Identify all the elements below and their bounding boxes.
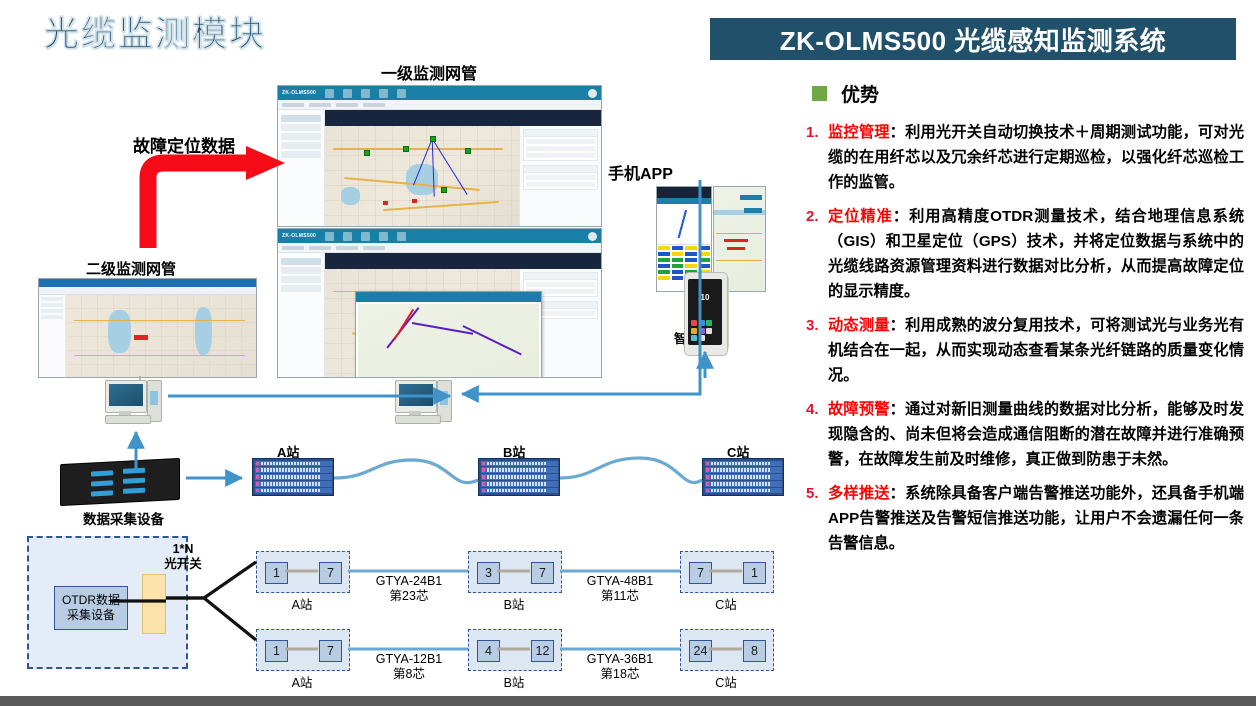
list-item-body: 多样推送：系统除具备客户端告警推送功能外，还具备手机端APP告警推送及告警短信推… xyxy=(828,481,1244,556)
breadcrumb-chip xyxy=(282,246,304,250)
port-right: 7 xyxy=(319,640,342,662)
avatar xyxy=(588,89,597,98)
list-item-sep: ： xyxy=(890,401,905,418)
list-item-sep: ： xyxy=(890,485,905,502)
optical-switch-line2: 光开关 xyxy=(153,557,213,572)
map-road xyxy=(74,355,245,357)
list-item-keyword: 多样推送 xyxy=(828,485,890,502)
fault-location-dialog[interactable] xyxy=(355,291,542,378)
daq-port xyxy=(123,488,145,494)
nms-menu-icon xyxy=(379,232,388,241)
sidebar-item xyxy=(281,258,321,265)
page-title: 光缆监测模块 xyxy=(44,6,266,57)
odf-row xyxy=(481,461,558,467)
smartphone-image: 10 xyxy=(678,272,732,354)
port-right: 8 xyxy=(743,640,766,662)
port-left: 3 xyxy=(477,562,500,584)
app-icon xyxy=(699,328,705,334)
nms-sidebar xyxy=(278,110,325,227)
map-water xyxy=(195,307,212,355)
phone-screen: 10 xyxy=(688,279,722,345)
sidebar-item xyxy=(281,267,321,274)
gis-map xyxy=(66,295,256,378)
table-row xyxy=(526,146,595,151)
fiber-row2-station-b: 4 12 xyxy=(468,629,562,671)
port-left: 4 xyxy=(477,640,500,662)
fiber-row1-station-b-label: B站 xyxy=(468,594,560,613)
nms-menu-icon xyxy=(343,89,352,98)
window-titlebar xyxy=(39,279,256,287)
port-right: 12 xyxy=(531,640,554,662)
optical-switch-label: 1*N 光开关 xyxy=(153,542,213,572)
port-left: 7 xyxy=(689,562,712,584)
core-number: 第8芯 xyxy=(355,667,463,682)
nms-sidebar xyxy=(278,253,325,378)
map-node xyxy=(364,150,370,156)
nms-breadcrumb xyxy=(278,243,601,253)
panel-header xyxy=(524,166,597,173)
map-road xyxy=(383,201,499,211)
tree-node xyxy=(41,309,63,313)
odf-row xyxy=(255,461,332,467)
fiber-row2-station-c-label: C站 xyxy=(680,672,772,691)
tree-node xyxy=(41,315,63,319)
odf-row xyxy=(481,481,558,487)
pc-screen xyxy=(109,384,143,406)
fiber-row1-station-a: 1 7 xyxy=(256,551,350,593)
tower-panel xyxy=(440,391,448,405)
nms-topbar: ZK-OLMS500 xyxy=(278,229,601,243)
nms-menu-icon xyxy=(361,89,370,98)
list-item-keyword: 动态测量 xyxy=(828,317,890,334)
dialog-map xyxy=(358,304,539,378)
nms-menu-icon xyxy=(343,232,352,241)
nms-menu-icon xyxy=(397,232,406,241)
advantages-heading-label: 优势 xyxy=(841,80,879,107)
odf-rack-station-c xyxy=(702,458,784,496)
port-right: 7 xyxy=(319,562,342,584)
tree-node xyxy=(41,303,63,307)
sidebar-item xyxy=(281,285,321,292)
port-left: 24 xyxy=(689,640,712,662)
nms-main xyxy=(325,110,601,227)
label-mobile-app: 手机APP xyxy=(608,160,673,184)
list-item-keyword: 定位精准 xyxy=(828,208,893,225)
fiber-row2-segment-1: GTYA-12B1 第8芯 xyxy=(355,652,463,682)
sidebar-item xyxy=(281,133,321,140)
nms-body xyxy=(278,253,601,378)
map-fault-marker xyxy=(134,335,148,340)
optical-switch-box xyxy=(142,574,166,634)
product-header-title: ZK-OLMS500 光缆感知监测系统 xyxy=(780,21,1167,58)
daq-port xyxy=(123,478,145,484)
list-item: 4. 故障预警：通过对新旧测量曲线的数据对比分析，能够及时发现隐含的、尚未但将会… xyxy=(806,397,1244,472)
phone-app-icons xyxy=(691,320,719,341)
odf-row xyxy=(255,488,332,494)
app-icon xyxy=(706,320,712,326)
fiber-row1-segment-2: GTYA-48B1 第11芯 xyxy=(566,574,674,604)
port-right: 7 xyxy=(531,562,554,584)
cable-type: GTYA-48B1 xyxy=(566,574,674,589)
dialog-route-line xyxy=(463,325,522,355)
phone-clock: 10 xyxy=(688,293,722,302)
map-alarm-marker xyxy=(412,199,417,203)
daq-chassis xyxy=(60,458,180,506)
app-icon xyxy=(699,335,705,341)
nms-menu-icon xyxy=(361,232,370,241)
fiber-row2-station-c: 24 8 xyxy=(680,629,774,671)
app-icon xyxy=(691,320,697,326)
label-daq-device: 数据采集设备 xyxy=(83,508,164,528)
odf-row xyxy=(481,488,558,494)
daq-port xyxy=(91,490,113,496)
advantages-heading: 优势 xyxy=(812,80,879,107)
fiber-row2-segment-2: GTYA-36B1 第18芯 xyxy=(566,652,674,682)
tower-panel xyxy=(150,391,158,405)
nms-map xyxy=(325,126,519,227)
port-left: 1 xyxy=(265,562,288,584)
list-item-sep: ： xyxy=(890,124,905,141)
app-icon xyxy=(699,320,705,326)
cable-b-to-c xyxy=(560,458,702,483)
map-alarm-marker xyxy=(383,201,388,205)
map-road xyxy=(716,233,762,234)
list-item: 2. 定位精准：利用高精度OTDR测量技术，结合地理信息系统（GIS）和卫星定位… xyxy=(806,204,1244,304)
list-item-sep: ： xyxy=(890,317,905,334)
slide-canvas: 光缆监测模块 ZK-OLMS500 光缆感知监测系统 优势 1. 监控管理：利用… xyxy=(0,0,1256,706)
sidebar-item xyxy=(281,142,321,149)
level1-nms-screenshot-detail: ZK-OLMS500 xyxy=(277,228,602,378)
breadcrumb-chip xyxy=(363,246,385,250)
nms-logo: ZK-OLMS500 xyxy=(282,90,316,96)
core-number: 第11芯 xyxy=(566,589,674,604)
table-row xyxy=(526,182,595,187)
list-item-body: 监控管理：利用光开关自动切换技术＋周期测试功能，可对光缆的在用纤芯以及冗余纤芯进… xyxy=(828,120,1244,195)
level1-nms-workstation xyxy=(395,380,457,428)
sidebar-item xyxy=(281,276,321,283)
nms-breadcrumb xyxy=(278,100,601,110)
odf-row xyxy=(255,474,332,480)
label-level1-nms: 一级监测网管 xyxy=(381,60,477,84)
nms-menu-icon xyxy=(325,232,334,241)
breadcrumb-chip xyxy=(309,103,331,107)
odf-row xyxy=(255,481,332,487)
nms-topbar: ZK-OLMS500 xyxy=(278,86,601,100)
breadcrumb-chip xyxy=(309,246,331,250)
core-number: 第23芯 xyxy=(355,589,463,604)
label-level2-nms: 二级监测网管 xyxy=(86,258,176,279)
window-toolbar xyxy=(39,287,256,295)
list-item-number: 5. xyxy=(806,481,828,556)
breadcrumb-chip xyxy=(363,103,385,107)
map-node xyxy=(430,136,436,142)
fiber-row1-segment-1: GTYA-24B1 第23芯 xyxy=(355,574,463,604)
level1-nms-screenshot: ZK-OLMS500 xyxy=(277,85,602,227)
otdr-box-line2: 采集设备 xyxy=(67,608,115,623)
list-item: 5. 多样推送：系统除具备客户端告警推送功能外，还具备手机端APP告警推送及告警… xyxy=(806,481,1244,556)
table-row xyxy=(526,139,595,144)
fiber-row1-station-a-label: A站 xyxy=(256,594,348,613)
list-item-body: 定位精准：利用高精度OTDR测量技术，结合地理信息系统（GIS）和卫星定位（GP… xyxy=(828,204,1244,304)
tree-panel xyxy=(39,295,66,378)
map-road xyxy=(74,320,245,322)
fiber-row2-station-a: 1 7 xyxy=(256,629,350,671)
odf-row xyxy=(255,467,332,473)
nms-main xyxy=(325,253,601,378)
odf-row xyxy=(481,467,558,473)
nms-banner xyxy=(325,253,601,269)
avatar xyxy=(588,232,597,241)
odf-row xyxy=(705,481,782,487)
map-water xyxy=(108,310,131,353)
port-right: 1 xyxy=(743,562,766,584)
map-road xyxy=(333,148,504,150)
sidebar-item xyxy=(281,151,321,158)
nms-menu-icon xyxy=(397,89,406,98)
pc-keyboard xyxy=(395,415,441,424)
nms-menu-icon xyxy=(325,89,334,98)
cable-a-to-b xyxy=(334,460,478,483)
cable-type: GTYA-12B1 xyxy=(355,652,463,667)
daq-port xyxy=(123,468,145,474)
breadcrumb-chip xyxy=(282,103,304,107)
odf-row xyxy=(705,467,782,473)
list-item-keyword: 监控管理 xyxy=(828,124,890,141)
pc-monitor xyxy=(395,380,437,413)
level2-nms-screenshot xyxy=(38,278,257,378)
dialog-fault-line xyxy=(394,309,415,341)
dialog-route-line xyxy=(412,322,473,334)
table-row xyxy=(526,282,595,287)
list-item-number: 3. xyxy=(806,313,828,388)
optical-switch-line1: 1*N xyxy=(153,542,213,557)
odf-row xyxy=(481,474,558,480)
panel-header xyxy=(524,130,597,137)
map-label-chip xyxy=(744,208,762,213)
list-item: 1. 监控管理：利用光开关自动切换技术＋周期测试功能，可对光缆的在用纤芯以及冗余… xyxy=(806,120,1244,195)
otdr-daq-box: OTDR数据 采集设备 xyxy=(54,586,128,630)
map-fault-marker xyxy=(727,247,745,250)
odf-row xyxy=(705,461,782,467)
map-water xyxy=(341,187,360,205)
pc-keyboard xyxy=(105,415,151,424)
cable-type: GTYA-36B1 xyxy=(566,652,674,667)
port-left: 1 xyxy=(265,640,288,662)
core-number: 第18芯 xyxy=(566,667,674,682)
list-item-body: 故障预警：通过对新旧测量曲线的数据对比分析，能够及时发现隐含的、尚未但将会造成通… xyxy=(828,397,1244,472)
fiber-row2-station-a-label: A站 xyxy=(256,672,348,691)
list-item-keyword: 故障预警 xyxy=(828,401,890,418)
map-node xyxy=(441,187,447,193)
list-item-sep: ： xyxy=(893,208,909,225)
otdr-curve-chart xyxy=(657,204,711,245)
fault-data-arrow-shaft xyxy=(148,163,250,248)
list-item: 3. 动态测量：利用成熟的波分复用技术，可将测试光与业务光有机结合在一起，从而实… xyxy=(806,313,1244,388)
dialog-titlebar[interactable] xyxy=(356,292,541,302)
pc-screen xyxy=(399,384,433,406)
otdr-trace-line xyxy=(661,210,708,238)
cable-type: GTYA-24B1 xyxy=(355,574,463,589)
nms-body xyxy=(278,110,601,227)
app-icon xyxy=(691,335,697,341)
fiber-row1-station-c: 7 1 xyxy=(680,551,774,593)
daq-server-image xyxy=(60,455,182,505)
label-fault-location-data: 故障定位数据 xyxy=(133,132,235,157)
event-panel xyxy=(523,165,598,190)
breadcrumb-chip xyxy=(336,246,358,250)
list-item-body: 动态测量：利用成熟的波分复用技术，可将测试光与业务光有机结合在一起，从而实现动态… xyxy=(828,313,1244,388)
daq-port xyxy=(91,470,113,476)
list-item-number: 1. xyxy=(806,120,828,195)
product-header-bar: ZK-OLMS500 光缆感知监测系统 xyxy=(710,18,1236,60)
daq-port xyxy=(91,480,113,486)
map-fault-marker xyxy=(724,239,748,242)
nms-right-panels xyxy=(519,126,601,227)
odf-rack-station-b xyxy=(478,458,560,496)
list-item-number: 4. xyxy=(806,397,828,472)
advantages-list: 1. 监控管理：利用光开关自动切换技术＋周期测试功能，可对光缆的在用纤芯以及冗余… xyxy=(806,120,1244,565)
breadcrumb-chip xyxy=(336,103,358,107)
map-node xyxy=(465,148,471,154)
fiber-row1-station-b: 3 7 xyxy=(468,551,562,593)
green-square-bullet-icon xyxy=(812,86,827,101)
table-row xyxy=(526,175,595,180)
odf-row xyxy=(705,488,782,494)
map-label-chip xyxy=(740,195,762,200)
fiber-row1-station-c-label: C站 xyxy=(680,594,772,613)
otdr-box-line1: OTDR数据 xyxy=(62,593,120,608)
nms-menu-icon xyxy=(379,89,388,98)
tree-node xyxy=(41,297,63,301)
fiber-row2-station-b-label: B站 xyxy=(468,672,560,691)
map-node xyxy=(403,146,409,152)
sidebar-item xyxy=(281,115,321,122)
alarm-panel xyxy=(523,129,598,161)
app-icon xyxy=(691,328,697,334)
pc-monitor xyxy=(105,380,147,413)
list-item-number: 2. xyxy=(806,204,828,304)
sidebar-item xyxy=(281,124,321,131)
app-header xyxy=(657,187,711,198)
odf-rack-station-a xyxy=(252,458,334,496)
app-icon xyxy=(706,328,712,334)
footer-bar xyxy=(0,696,1256,706)
nms-logo: ZK-OLMS500 xyxy=(282,233,316,239)
panel-header xyxy=(524,273,597,280)
table-row xyxy=(526,153,595,158)
odf-row xyxy=(705,474,782,480)
map-road xyxy=(716,260,762,261)
nms-banner xyxy=(325,110,601,126)
window-body xyxy=(39,295,256,378)
level2-nms-workstation xyxy=(105,380,167,428)
